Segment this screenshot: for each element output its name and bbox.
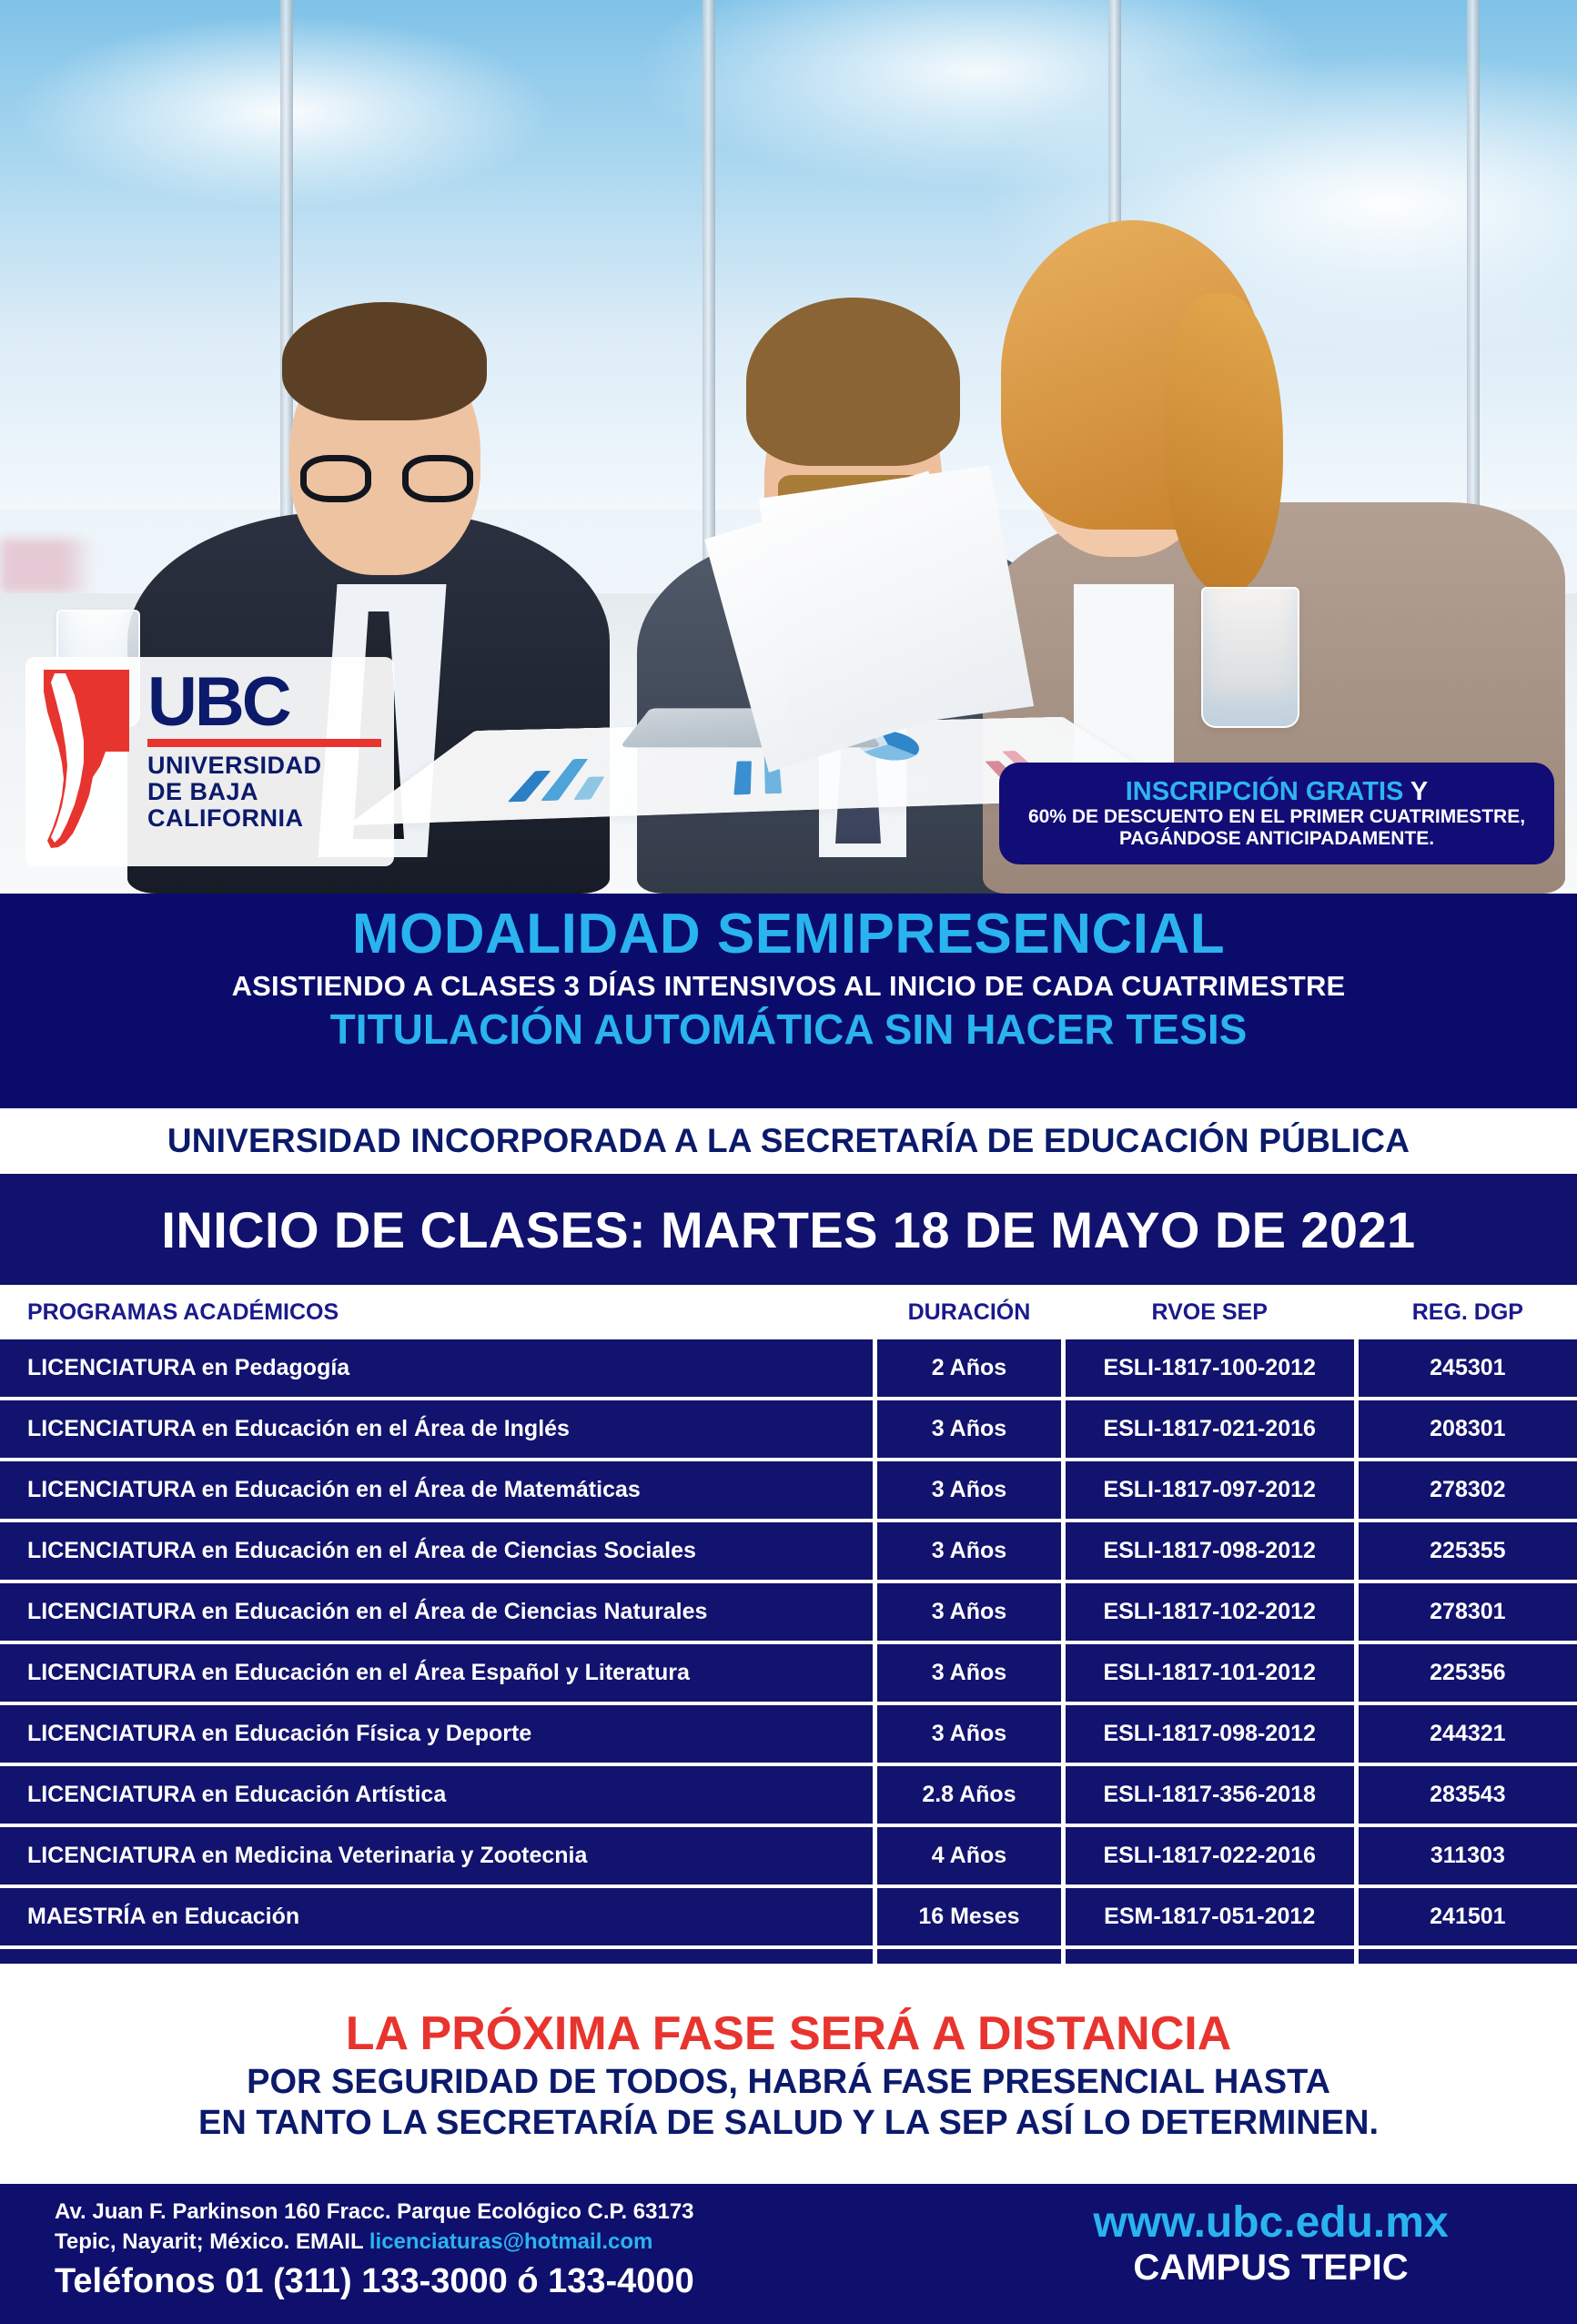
cell-programa: LICENCIATURA en Pedagogía <box>0 1339 873 1397</box>
hero-photo: UBC UNIVERSIDAD DE BAJA CALIFORNIA INSCR… <box>0 0 1577 894</box>
cell-duracion: 2 Años <box>877 1339 1060 1397</box>
cell-rvoe: ESLI-1817-022-2016 <box>1066 1827 1354 1884</box>
table-row: LICENCIATURA en Pedagogía2 AñosESLI-1817… <box>0 1339 1577 1397</box>
eyeglasses-icon <box>300 455 473 502</box>
table-row: MAESTRÍA en Educación16 MesesESM-1817-05… <box>0 1888 1577 1945</box>
cell-rvoe: ESLI-1817-098-2012 <box>1066 1705 1354 1763</box>
footer-phones[interactable]: Teléfonos 01 (311) 133-3000 ó 133-4000 <box>55 2262 965 2301</box>
logo-line-universidad: UNIVERSIDAD <box>147 753 381 779</box>
footer-website-link[interactable]: www.ubc.edu.mx <box>965 2200 1577 2246</box>
table-footer-strip <box>0 1949 1577 1964</box>
cell-dgp: 208301 <box>1359 1400 1577 1458</box>
footer-email-label: Tepic, Nayarit; México. EMAIL <box>55 2229 369 2254</box>
logo-line-california: CALIFORNIA <box>147 805 381 832</box>
cell-programa: LICENCIATURA en Educación Física y Depor… <box>0 1705 873 1763</box>
cell-dgp: 244321 <box>1359 1705 1577 1763</box>
footer: Av. Juan F. Parkinson 160 Fracc. Parque … <box>0 2184 1577 2324</box>
promo-badge: INSCRIPCIÓN GRATIS Y 60% DE DESCUENTO EN… <box>999 763 1554 864</box>
cell-duracion: 3 Años <box>877 1644 1060 1702</box>
notice-section: LA PRÓXIMA FASE SERÁ A DISTANCIA POR SEG… <box>0 1998 1577 2184</box>
cell-dgp: 311303 <box>1359 1827 1577 1884</box>
ubc-logo: UBC UNIVERSIDAD DE BAJA CALIFORNIA <box>25 657 394 866</box>
header-dgp: REG. DGP <box>1359 1299 1577 1326</box>
person-left-hair <box>282 302 487 420</box>
start-date-text: INICIO DE CLASES: MARTES 18 DE MAYO DE 2… <box>161 1200 1415 1259</box>
promo-highlight: INSCRIPCIÓN GRATIS <box>1126 777 1404 806</box>
cell-rvoe: ESLI-1817-098-2012 <box>1066 1522 1354 1580</box>
footer-contact: Av. Juan F. Parkinson 160 Fracc. Parque … <box>0 2184 965 2324</box>
table-row: LICENCIATURA en Educación en el Área de … <box>0 1400 1577 1458</box>
document-sheet <box>758 464 1036 742</box>
headline-titulacion: TITULACIÓN AUTOMÁTICA SIN HACER TESIS <box>0 1006 1577 1054</box>
promo-line-1: INSCRIPCIÓN GRATIS Y <box>1126 777 1428 806</box>
cell-dgp: 245301 <box>1359 1339 1577 1397</box>
notice-blue-line-1: POR SEGURIDAD DE TODOS, HABRÁ FASE PRESE… <box>0 2062 1577 2104</box>
logo-acronym: UBC <box>147 672 381 733</box>
cell-dgp: 278302 <box>1359 1461 1577 1519</box>
promo-line-3: PAGÁNDOSE ANTICIPADAMENTE. <box>1119 828 1434 850</box>
cell-duracion: 16 Meses <box>877 1888 1060 1945</box>
table-header-row: PROGRAMAS ACADÉMICOS DURACIÓN RVOE SEP R… <box>0 1285 1577 1339</box>
person-center-hair <box>746 298 960 466</box>
cell-rvoe: ESLI-1817-100-2012 <box>1066 1339 1354 1397</box>
header-rvoe: RVOE SEP <box>1066 1299 1354 1326</box>
sep-banner-text: UNIVERSIDAD INCORPORADA A LA SECRETARÍA … <box>167 1122 1410 1160</box>
start-date-band: INICIO DE CLASES: MARTES 18 DE MAYO DE 2… <box>0 1174 1577 1285</box>
cell-duracion: 3 Años <box>877 1461 1060 1519</box>
cell-dgp: 225356 <box>1359 1644 1577 1702</box>
headline-asistiendo: ASISTIENDO A CLASES 3 DÍAS INTENSIVOS AL… <box>0 969 1577 1003</box>
table-row: LICENCIATURA en Medicina Veterinaria y Z… <box>0 1827 1577 1884</box>
cell-dgp: 278301 <box>1359 1583 1577 1641</box>
table-row: LICENCIATURA en Educación Física y Depor… <box>0 1705 1577 1763</box>
table-row: LICENCIATURA en Educación Artística2.8 A… <box>0 1766 1577 1824</box>
table-row: LICENCIATURA en Educación en el Área de … <box>0 1461 1577 1519</box>
logo-line-debaja: DE BAJA <box>147 779 381 805</box>
cell-rvoe: ESLI-1817-102-2012 <box>1066 1583 1354 1641</box>
baja-california-map-icon <box>38 668 135 850</box>
footer-web: www.ubc.edu.mx CAMPUS TEPIC <box>965 2184 1577 2324</box>
cell-programa: MAESTRÍA en Educación <box>0 1888 873 1945</box>
cell-programa: LICENCIATURA en Educación en el Área de … <box>0 1522 873 1580</box>
footer-address-line-1: Av. Juan F. Parkinson 160 Fracc. Parque … <box>55 2197 965 2227</box>
table-row: LICENCIATURA en Educación en el Área de … <box>0 1522 1577 1580</box>
cell-duracion: 3 Años <box>877 1705 1060 1763</box>
table-row: LICENCIATURA en Educación en el Área de … <box>0 1583 1577 1641</box>
cell-programa: LICENCIATURA en Educación Artística <box>0 1766 873 1824</box>
water-glass <box>1201 587 1299 728</box>
programs-table: PROGRAMAS ACADÉMICOS DURACIÓN RVOE SEP R… <box>0 1285 1577 1964</box>
notice-blue-line-2: EN TANTO LA SECRETARÍA DE SALUD Y LA SEP… <box>0 2103 1577 2145</box>
header-duracion: DURACIÓN <box>877 1299 1060 1326</box>
footer-address-line-2: Tepic, Nayarit; México. EMAIL licenciatu… <box>55 2227 965 2257</box>
cell-dgp: 225355 <box>1359 1522 1577 1580</box>
table-row: LICENCIATURA en Educación en el Área Esp… <box>0 1644 1577 1702</box>
footer-email-link[interactable]: licenciaturas@hotmail.com <box>369 2229 653 2254</box>
cell-programa: LICENCIATURA en Medicina Veterinaria y Z… <box>0 1827 873 1884</box>
cell-duracion: 4 Años <box>877 1827 1060 1884</box>
promo-line1-tail: Y <box>1403 777 1428 806</box>
headline-modalidad: MODALIDAD SEMIPRESENCIAL <box>0 904 1577 965</box>
headline-band: MODALIDAD SEMIPRESENCIAL ASISTIENDO A CL… <box>0 894 1577 1108</box>
cell-rvoe: ESLI-1817-101-2012 <box>1066 1644 1354 1702</box>
cell-duracion: 2.8 Años <box>877 1766 1060 1824</box>
cell-rvoe: ESLI-1817-021-2016 <box>1066 1400 1354 1458</box>
cell-duracion: 3 Años <box>877 1522 1060 1580</box>
person-right-hair-strand <box>1165 293 1283 593</box>
cell-rvoe: ESM-1817-051-2012 <box>1066 1888 1354 1945</box>
cell-dgp: 283543 <box>1359 1766 1577 1824</box>
cell-dgp: 241501 <box>1359 1888 1577 1945</box>
promo-line-2: 60% DE DESCUENTO EN EL PRIMER CUATRIMEST… <box>1028 806 1525 828</box>
cell-rvoe: ESLI-1817-356-2018 <box>1066 1766 1354 1824</box>
cell-programa: LICENCIATURA en Educación en el Área de … <box>0 1583 873 1641</box>
footer-campus: CAMPUS TEPIC <box>965 2248 1577 2288</box>
cell-programa: LICENCIATURA en Educación en el Área Esp… <box>0 1644 873 1702</box>
cell-rvoe: ESLI-1817-097-2012 <box>1066 1461 1354 1519</box>
cell-duracion: 3 Años <box>877 1583 1060 1641</box>
sep-banner: UNIVERSIDAD INCORPORADA A LA SECRETARÍA … <box>0 1108 1577 1174</box>
cell-programa: LICENCIATURA en Educación en el Área de … <box>0 1400 873 1458</box>
header-programas: PROGRAMAS ACADÉMICOS <box>0 1299 873 1326</box>
cell-duracion: 3 Años <box>877 1400 1060 1458</box>
cell-programa: LICENCIATURA en Educación en el Área de … <box>0 1461 873 1519</box>
notice-red-line: LA PRÓXIMA FASE SERÁ A DISTANCIA <box>0 2007 1577 2062</box>
